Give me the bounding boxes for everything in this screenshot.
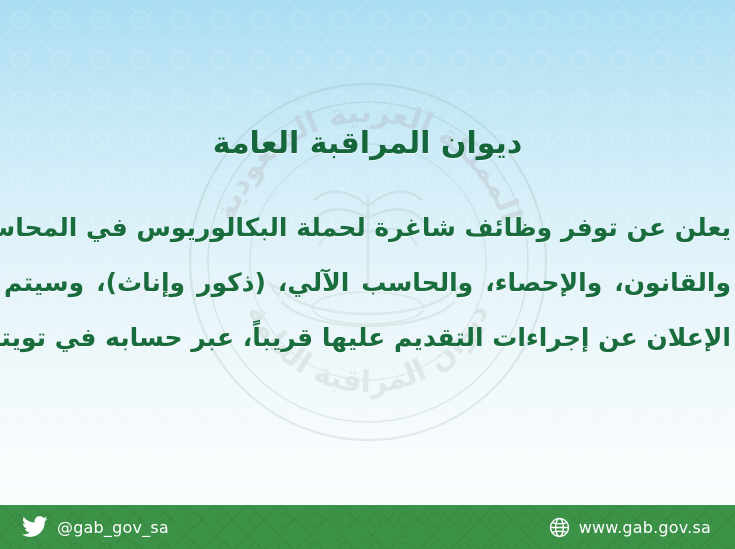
- page-title: ديوان المراقبة العامة: [0, 126, 735, 162]
- announcement-line-3: الإعلان عن إجراءات التقديم عليها قريباً،…: [4, 310, 731, 365]
- globe-icon: [549, 517, 570, 538]
- website-url-label: www.gab.gov.sa: [579, 518, 711, 537]
- poster-canvas: المملكة العربية السعودية ديوان المراقبة …: [0, 0, 735, 549]
- announcement-line-1: يعلن عن توفر وظائف شاغرة لحملة البكالوري…: [4, 200, 731, 255]
- announcement-body: يعلن عن توفر وظائف شاغرة لحملة البكالوري…: [4, 200, 731, 365]
- announcement-line-2: والقانون، والإحصاء، والحاسب الآلي، (ذكور…: [4, 255, 731, 310]
- twitter-handle-link[interactable]: @gab_gov_sa: [22, 505, 169, 549]
- footer-bar: @gab_gov_sa www.gab.gov.sa: [0, 505, 735, 549]
- twitter-bird-icon: [22, 516, 48, 538]
- website-link[interactable]: www.gab.gov.sa: [549, 505, 711, 549]
- poster-content: ديوان المراقبة العامة يعلن عن توفر وظائف…: [0, 0, 735, 505]
- twitter-handle-label: @gab_gov_sa: [57, 518, 169, 537]
